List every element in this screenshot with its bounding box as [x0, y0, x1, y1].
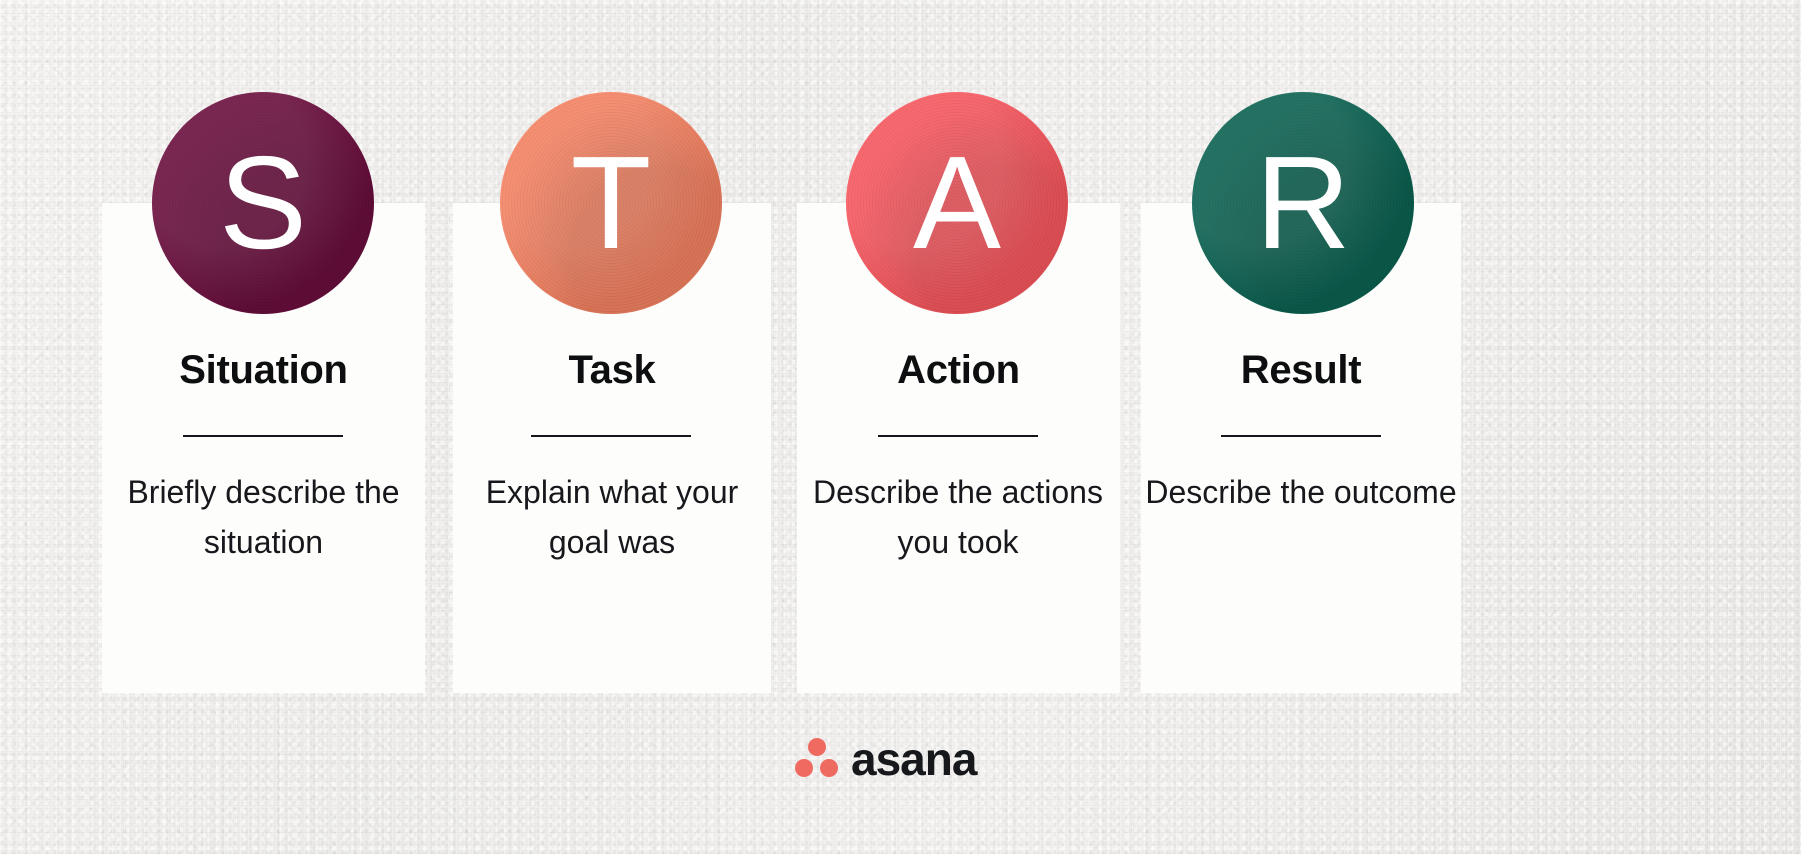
step-title-result: Result	[1141, 348, 1461, 393]
infographic-stage: S T A R Situation Task Action Result Bri…	[0, 0, 1801, 854]
divider-task	[531, 435, 691, 437]
divider-action	[878, 435, 1038, 437]
logo-dot-top-icon	[808, 738, 826, 756]
asana-logo-icon	[795, 738, 839, 780]
divider-result	[1221, 435, 1381, 437]
step-description-result: Describe the outcome	[1141, 468, 1461, 518]
letter-r: R	[1255, 137, 1350, 269]
asana-wordmark: asana	[851, 736, 976, 782]
divider-situation	[183, 435, 343, 437]
letter-t: T	[571, 137, 652, 269]
logo-dot-bottom-right-icon	[820, 759, 838, 777]
step-title-action: Action	[797, 348, 1120, 393]
letter-circle-a: A	[846, 92, 1068, 314]
step-description-action: Describe the actions you took	[790, 468, 1126, 567]
letter-a: A	[913, 137, 1001, 269]
letter-circle-t: T	[500, 92, 722, 314]
step-title-task: Task	[453, 348, 771, 393]
letter-circle-r: R	[1192, 92, 1414, 314]
step-title-situation: Situation	[102, 348, 425, 393]
letter-s: S	[219, 137, 307, 269]
logo-dot-bottom-left-icon	[795, 759, 813, 777]
letter-circle-s: S	[152, 92, 374, 314]
step-description-task: Explain what your goal was	[453, 468, 771, 567]
step-description-situation: Briefly describe the situation	[102, 468, 425, 567]
asana-logo: asana	[795, 736, 976, 782]
